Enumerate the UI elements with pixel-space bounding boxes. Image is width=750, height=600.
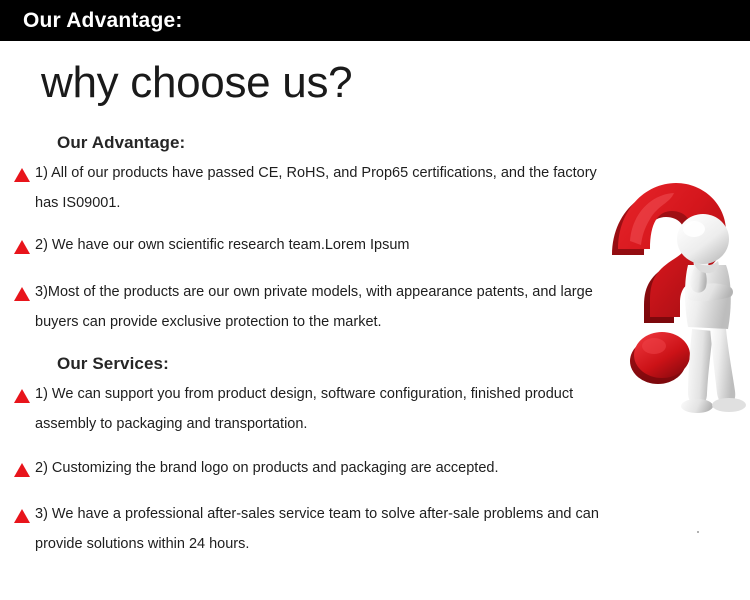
list-item-text: 3)Most of the products are our own priva… (35, 277, 602, 337)
list-item-text: 2) We have our own scientific research t… (35, 230, 409, 260)
list-item: 1) We can support you from product desig… (14, 386, 602, 439)
list-item-text: 3) We have a professional after-sales se… (35, 499, 602, 559)
banner-title: Our Advantage: (23, 9, 183, 33)
triangle-bullet-icon (14, 240, 30, 254)
section-heading-advantage: Our Advantage: (57, 133, 185, 153)
triangle-bullet-icon (14, 509, 30, 523)
triangle-bullet-icon (14, 389, 30, 403)
triangle-bullet-icon (14, 168, 30, 182)
main-content: why choose us? Our Advantage: 1) All of … (0, 41, 750, 600)
thinking-person-figure (677, 214, 746, 413)
triangle-bullet-icon (14, 463, 30, 477)
list-item-text: 2) Customizing the brand logo on product… (35, 453, 499, 483)
list-item: 3) We have a professional after-sales se… (14, 506, 602, 559)
list-item-text: 1) We can support you from product desig… (35, 379, 602, 439)
triangle-bullet-icon (14, 287, 30, 301)
list-item: 2) Customizing the brand logo on product… (14, 460, 602, 483)
list-item: 1) All of our products have passed CE, R… (14, 165, 602, 218)
list-item-text: 1) All of our products have passed CE, R… (35, 158, 602, 218)
artifact-speck (697, 531, 699, 533)
top-banner: Our Advantage: (0, 0, 750, 41)
section-heading-services: Our Services: (57, 354, 169, 374)
page-headline: why choose us? (41, 61, 352, 105)
list-item: 3)Most of the products are our own priva… (14, 284, 602, 337)
question-mark-illustration (600, 161, 750, 421)
list-item: 2) We have our own scientific research t… (14, 237, 602, 260)
